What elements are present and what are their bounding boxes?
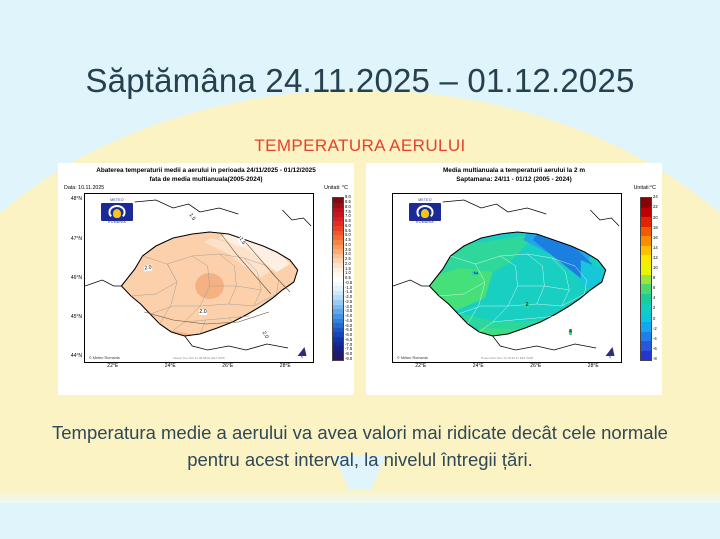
anomaly-x-tick-2: 26°E: [222, 363, 233, 375]
climatology-y-tick-0: 48°N: [379, 197, 390, 202]
colorbar-tick-label: 10: [653, 266, 658, 270]
climatology-y-tick-1: 47°N: [379, 237, 390, 242]
anomaly-map-date: Data: 10.11.2025: [64, 185, 104, 191]
meteo-romania-logo-right: METEO ROMANIA: [405, 199, 445, 227]
anomaly-plot-wrap: 48°N 47°N 46°N 45°N 44°N: [62, 193, 350, 379]
north-arrow-label: N: [295, 356, 309, 359]
climatology-drawn-note: Drawn Mon Nov 10 15:42:11 EET 2025: [481, 356, 533, 360]
anomaly-y-axis: 48°N 47°N 46°N 45°N 44°N: [62, 193, 82, 361]
colorbar-tick-label: -9.0: [345, 357, 350, 361]
anomaly-map-meta: Data: 10.11.2025 Unitati: °C: [58, 184, 354, 193]
colorbar-tick-label: -2: [653, 327, 658, 331]
anomaly-y-tick-0: 48°N: [71, 197, 82, 202]
colorbar-swatch: [641, 313, 651, 323]
climatology-plot-wrap: 48°N 47°N 46°N 45°N 44°N: [370, 193, 658, 379]
north-arrow-icon: N: [295, 347, 309, 359]
north-arrow-label-right: N: [603, 356, 617, 359]
logo-bottom-label: ROMANIA: [97, 221, 137, 225]
anomaly-map-panel: Abaterea temperaturii medii a aerului in…: [58, 163, 354, 395]
logo-emblem-icon-right: [409, 203, 441, 221]
colorbar-swatch: [641, 265, 651, 275]
anomaly-map-title: Abaterea temperaturii medii a aerului in…: [58, 163, 354, 184]
climatology-map-title-line2: Saptamana: 24/11 - 01/12 (2005 - 2024): [372, 176, 656, 185]
anomaly-x-tick-3: 28°E: [280, 363, 291, 375]
colorbar-tick-label: -4: [653, 337, 658, 341]
colorbar-swatch: [641, 322, 651, 332]
colorbar-swatch: [641, 351, 651, 361]
colorbar-swatch: [641, 255, 651, 265]
background-bottom-strip: [0, 503, 720, 539]
anomaly-colorbar-labels: 9.08.58.07.57.06.56.05.55.04.54.03.53.02…: [345, 195, 350, 361]
climatology-contour-label-3: 4: [569, 329, 573, 335]
north-arrow-triangle: [297, 347, 307, 356]
slide: Săptămâna 24.11.2025 – 01.12.2025 TEMPER…: [0, 0, 720, 539]
climatology-x-tick-2: 26°E: [530, 363, 541, 375]
climatology-x-tick-3: 28°E: [588, 363, 599, 375]
anomaly-y-tick-3: 45°N: [71, 315, 82, 320]
colorbar-swatch: [641, 208, 651, 218]
anomaly-x-tick-1: 24°E: [165, 363, 176, 375]
climatology-y-axis: 48°N 47°N 46°N 45°N 44°N: [370, 193, 390, 361]
colorbar-tick-label: 2: [653, 306, 658, 310]
colorbar-swatch: [641, 303, 651, 313]
colorbar-tick-label: -6: [653, 347, 658, 351]
colorbar-tick-label: -8: [653, 357, 658, 361]
anomaly-y-tick-4: 44°N: [71, 354, 82, 359]
colorbar-swatch: [641, 284, 651, 294]
colorbar-swatch: [641, 227, 651, 237]
anomaly-credit: © Meteo Romania: [89, 356, 120, 360]
climatology-contour-label-1: 2: [472, 271, 478, 275]
colorbar-tick-label: 14: [653, 246, 658, 250]
climatology-colorbar-labels: 242220181614121086420-2-4-6-8: [653, 195, 658, 361]
north-arrow-icon-right: N: [603, 347, 617, 359]
colorbar-tick-label: 20: [653, 216, 658, 220]
colorbar-tick-label: 12: [653, 256, 658, 260]
colorbar-tick-label: 0: [653, 317, 658, 321]
climatology-contour-label-2: 2: [525, 302, 529, 308]
logo-bottom-label-right: ROMANIA: [405, 221, 445, 225]
anomaly-x-axis: 22°E 24°E 26°E 28°E: [84, 363, 314, 375]
colorbar-tick-label: 22: [653, 205, 658, 209]
anomaly-y-tick-1: 47°N: [71, 237, 82, 242]
anomaly-map-title-line1: Abaterea temperaturii medii a aerului in…: [64, 167, 348, 176]
colorbar-tick-label: 8: [653, 276, 658, 280]
colorbar-tick-label: 6: [653, 286, 658, 290]
colorbar-swatch: [641, 217, 651, 227]
anomaly-map-units: Unitati: °C: [324, 185, 348, 191]
colorbar-swatch: [641, 294, 651, 304]
climatology-map-meta: Unitati:°C: [366, 184, 662, 193]
colorbar-tick-label: 24: [653, 195, 658, 199]
anomaly-colorbar: [332, 197, 344, 361]
anomaly-y-tick-2: 46°N: [71, 276, 82, 281]
colorbar-swatch: [641, 236, 651, 246]
climatology-x-tick-0: 22°E: [415, 363, 426, 375]
page-title: Săptămâna 24.11.2025 – 01.12.2025: [0, 62, 720, 100]
anomaly-contour-label-3: 2.0: [144, 264, 153, 271]
climatology-map-units: Unitati:°C: [634, 185, 656, 191]
anomaly-contour-label-4: 2.0: [199, 309, 207, 315]
colorbar-swatch: [641, 275, 651, 285]
anomaly-map-title-line2: fata de media multianuala(2005-2024): [64, 176, 348, 185]
logo-emblem-icon: [101, 203, 133, 221]
colorbar-swatch: [641, 332, 651, 342]
colorbar-swatch: [333, 356, 343, 361]
colorbar-tick-label: 18: [653, 226, 658, 230]
anomaly-map-frame[interactable]: 1.5 1.5 2.0 2.0 2.0 METEO ROMANIA © Mete…: [84, 193, 314, 363]
section-subtitle: TEMPERATURA AERULUI: [0, 136, 720, 156]
climatology-colorbar: [640, 197, 652, 361]
climatology-credit: © Meteo Romania: [397, 356, 428, 360]
colorbar-swatch: [641, 198, 651, 208]
summary-caption: Temperatura medie a aerului va avea valo…: [52, 420, 668, 474]
climatology-x-tick-1: 24°E: [473, 363, 484, 375]
colorbar-swatch: [641, 246, 651, 256]
meteo-romania-logo: METEO ROMANIA: [97, 199, 137, 227]
climatology-y-tick-4: 44°N: [379, 354, 390, 359]
anomaly-x-tick-0: 22°E: [107, 363, 118, 375]
anomaly-drawn-note: Drawn Tue Nov 11 06:38:01 EET 2025: [173, 356, 224, 360]
north-arrow-triangle-right: [605, 347, 615, 356]
climatology-map-title: Media multianuala a temperaturii aerului…: [366, 163, 662, 184]
climatology-map-panel: Media multianuala a temperaturii aerului…: [366, 163, 662, 395]
climatology-map-frame[interactable]: 2 2 4 METEO ROMANIA © Meteo Romania Draw…: [392, 193, 622, 363]
colorbar-tick-label: 4: [653, 296, 658, 300]
background-bottom-fade: [0, 489, 720, 503]
colorbar-swatch: [641, 341, 651, 351]
climatology-y-tick-3: 45°N: [379, 315, 390, 320]
climatology-x-axis: 22°E 24°E 26°E 28°E: [392, 363, 622, 375]
climatology-map-title-line1: Media multianuala a temperaturii aerului…: [372, 167, 656, 176]
colorbar-tick-label: 16: [653, 236, 658, 240]
climatology-y-tick-2: 46°N: [379, 276, 390, 281]
